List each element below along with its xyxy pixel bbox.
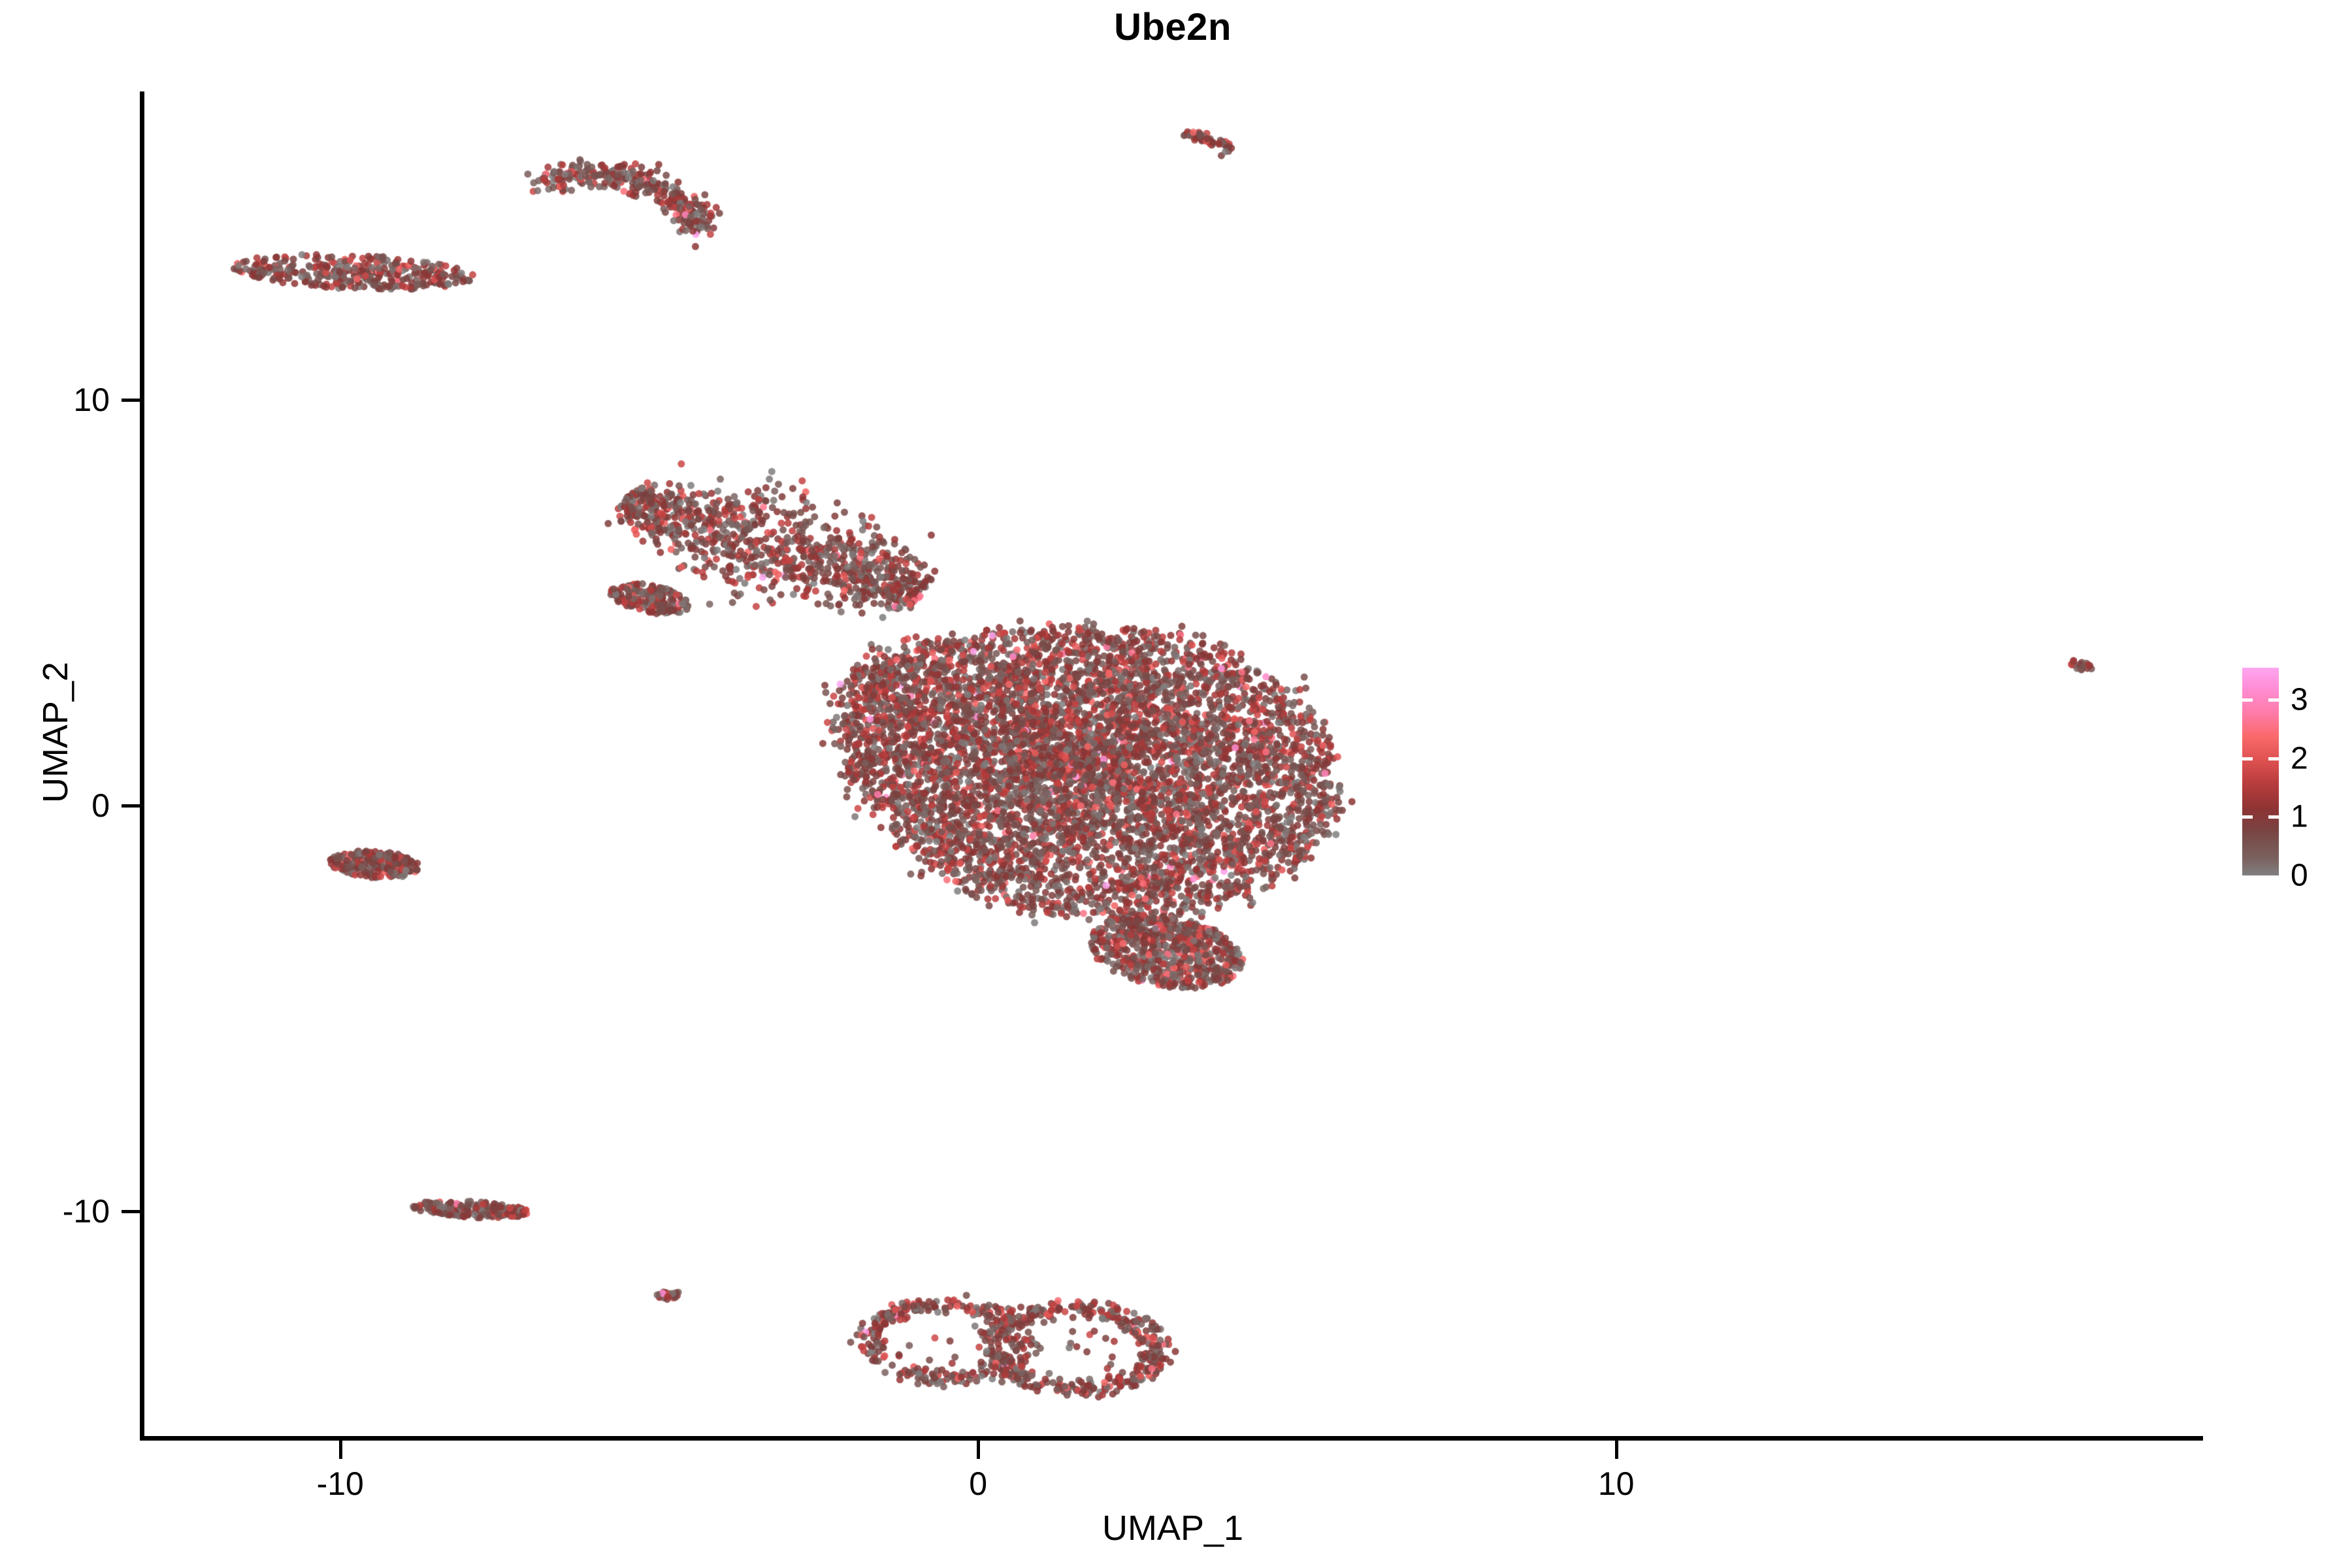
legend-tick-label: 0 (2291, 858, 2308, 894)
plot-title-container: Ube2n (142, 5, 2203, 49)
x-tick-label: 0 (969, 1465, 987, 1503)
x-tick-label: -10 (317, 1465, 364, 1503)
x-tick-mark (977, 1441, 980, 1459)
y-axis-label: UMAP_2 (35, 438, 76, 1026)
legend-tick-label: 2 (2291, 740, 2308, 776)
legend-tick-label: 1 (2291, 799, 2308, 835)
y-axis-line (140, 91, 144, 1441)
feature-plot-root: Ube2n -10010-10010 UMAP_1 UMAP_2 0123 (0, 0, 2352, 1568)
x-tick-mark (339, 1441, 342, 1459)
color-legend: 0123 (2242, 668, 2340, 883)
legend-tick-mark (2242, 757, 2253, 760)
y-tick-mark (122, 399, 140, 402)
x-axis-line (140, 1436, 2203, 1441)
legend-tick-label: 3 (2291, 682, 2308, 718)
legend-tick-mark (2268, 757, 2279, 760)
x-axis-label: UMAP_1 (142, 1508, 2203, 1548)
scatter-points-canvas (0, 0, 2352, 1568)
y-tick-mark (122, 1210, 140, 1213)
y-tick-label: 10 (73, 381, 110, 419)
legend-tick-mark (2268, 698, 2279, 702)
y-tick-mark (122, 804, 140, 808)
y-tick-label: -10 (63, 1192, 110, 1230)
page-title: Ube2n (142, 5, 2203, 49)
x-tick-label: 10 (1598, 1465, 1635, 1503)
x-tick-mark (1615, 1441, 1618, 1459)
legend-tick-mark (2268, 815, 2279, 819)
legend-tick-mark (2242, 815, 2253, 819)
legend-tick-mark (2242, 698, 2253, 702)
y-tick-label: 0 (91, 787, 110, 825)
